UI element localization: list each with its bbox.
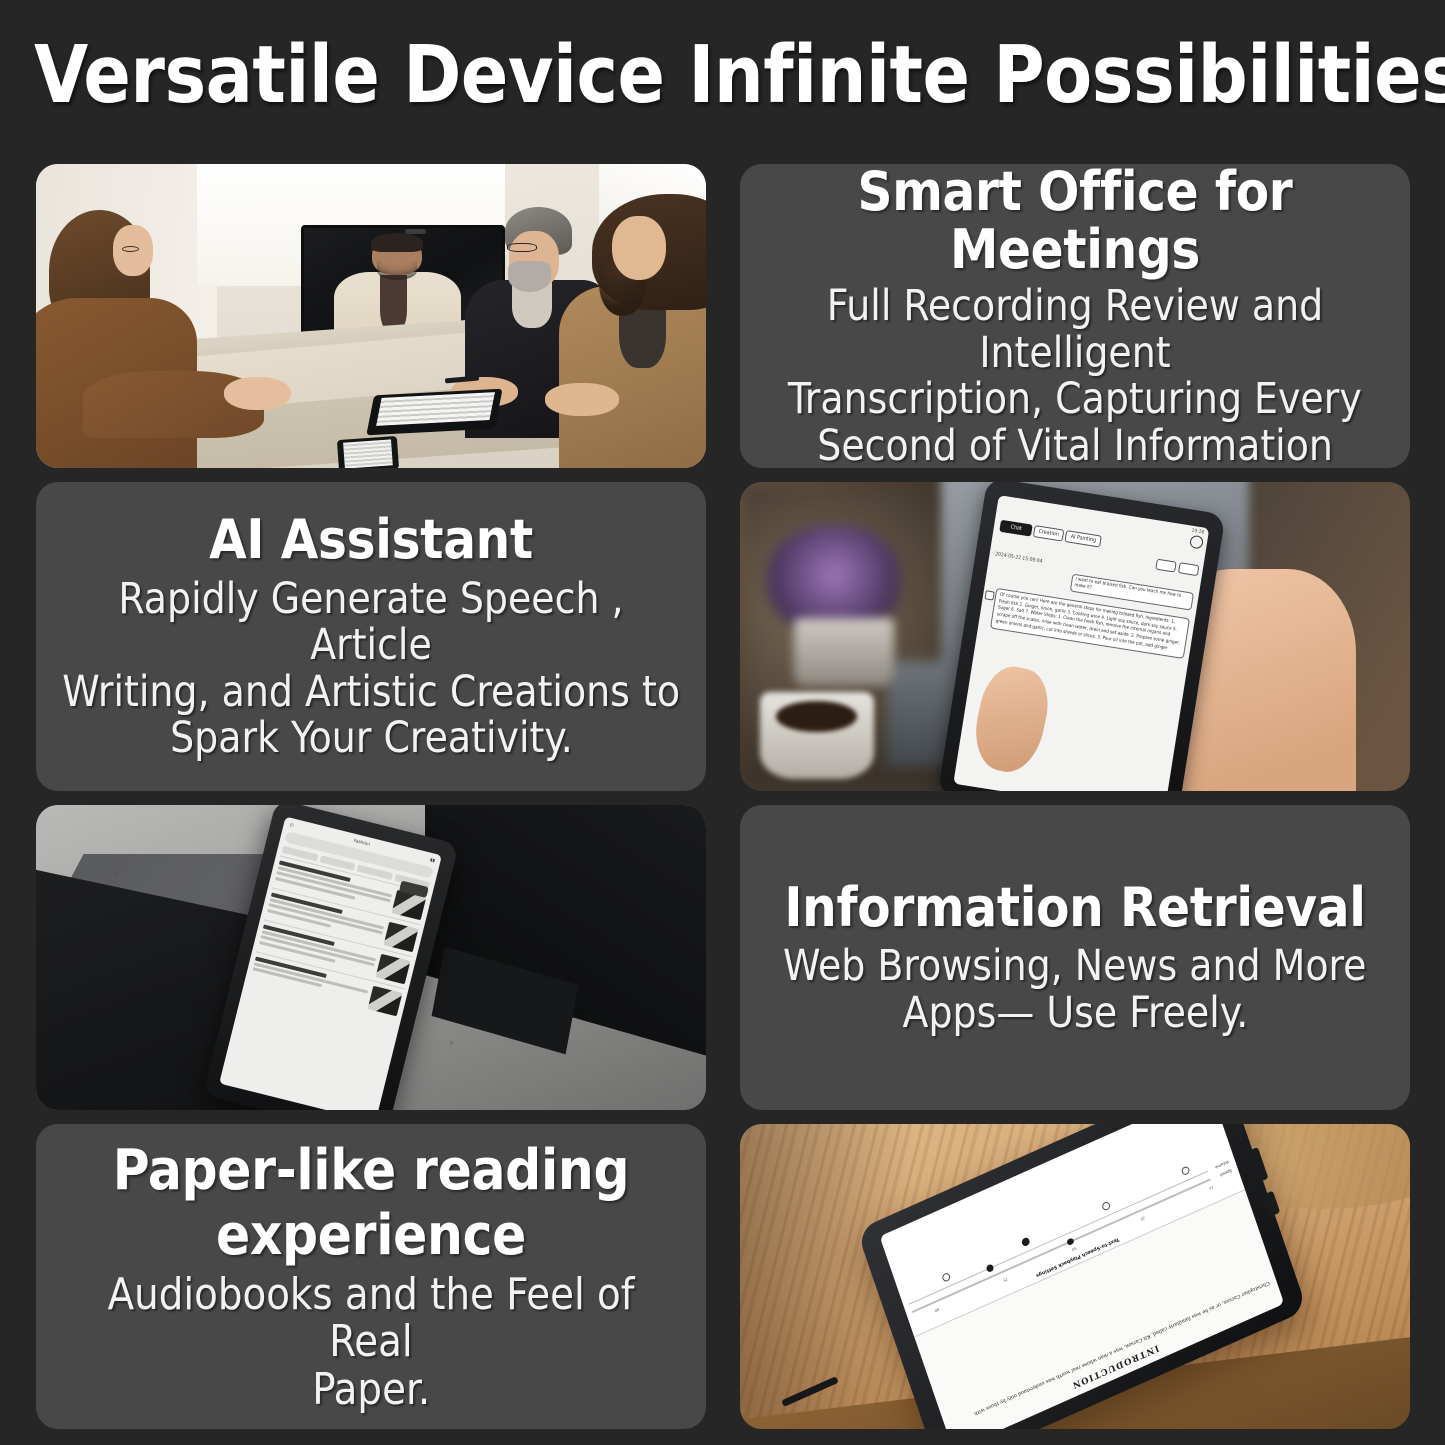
stop-button[interactable] xyxy=(1101,1201,1111,1212)
ai-assistant-body-line-3: Spark Your Creativity. xyxy=(170,715,573,761)
thumbnail-image xyxy=(368,986,403,1017)
information-retrieval-heading: Information Retrieval xyxy=(784,879,1365,937)
speed-mark: 1x xyxy=(1208,1185,1213,1191)
information-retrieval-body-line-1: Web Browsing, News and More xyxy=(783,943,1367,989)
infographic-page: Versatile Device Infinite Possibilities xyxy=(0,0,1445,1445)
ai-chat-phone-photo: 19:28 Chat Creation AI Painting 2024-05-… xyxy=(740,482,1410,791)
tab-creation[interactable]: Creation xyxy=(1033,525,1065,542)
tts-panel-title: Text-to-Speech Playback Settings xyxy=(916,1183,1237,1330)
exit-button[interactable] xyxy=(1181,1165,1191,1176)
ai-assistant-heading: AI Assistant xyxy=(209,511,533,569)
ereader-on-wood-photo: INTRODUCTION Christopher Carson, or as h… xyxy=(740,1124,1410,1429)
paper-like-body-line-2: Paper. xyxy=(312,1366,430,1414)
account-avatar-icon xyxy=(1189,535,1204,550)
smart-office-body-line-3: Second of Vital Information xyxy=(817,423,1333,468)
paper-like-body-line-1: Audiobooks and the Feel of Real xyxy=(77,1271,665,1366)
ai-assistant-body-line-1: Rapidly Generate Speech , Article xyxy=(60,576,681,669)
volume-slider[interactable] xyxy=(909,1171,1208,1305)
smart-office-card: Smart Office for Meetings Full Recording… xyxy=(740,164,1410,468)
meeting-room-photo xyxy=(36,164,706,468)
chat-timestamp: 2024-05-22 15:09:04 xyxy=(995,552,1043,565)
thumbnail-image xyxy=(376,954,411,985)
speed-mark: 25 xyxy=(1140,1216,1145,1222)
speed-mark: 80 xyxy=(934,1307,939,1313)
assistant-avatar-icon xyxy=(985,591,995,601)
ai-assistant-card: AI Assistant Rapidly Generate Speech , A… xyxy=(36,482,706,791)
phone-on-concrete-photo: ◴Fashion▮▮ xyxy=(36,805,706,1110)
paper-like-heading-line-1: Paper-like reading xyxy=(113,1140,630,1202)
feature-grid: Smart Office for Meetings Full Recording… xyxy=(36,164,1410,1411)
information-retrieval-body-line-2: Apps— Use Freely. xyxy=(902,990,1248,1036)
tab-ai-painting[interactable]: AI Painting xyxy=(1065,531,1102,548)
page-title: Versatile Device Infinite Possibilities xyxy=(34,36,1393,115)
phone-device-icon xyxy=(336,436,398,468)
smart-office-body-line-2: Transcription, Capturing Every xyxy=(788,376,1362,422)
paper-like-heading-line-2: experience xyxy=(216,1205,526,1267)
tab-chat[interactable]: Chat xyxy=(1000,520,1033,537)
thumbnail-image xyxy=(384,922,419,953)
setting-button[interactable] xyxy=(941,1272,951,1283)
paper-like-reading-card: Paper-like reading experience Audiobooks… xyxy=(36,1124,706,1429)
smart-office-heading: Smart Office for Meetings xyxy=(758,164,1392,279)
tablet-device-icon xyxy=(366,389,503,435)
speed-mark: 75 xyxy=(1003,1277,1008,1283)
play-button[interactable] xyxy=(1021,1236,1031,1247)
speed-slider[interactable] xyxy=(912,1179,1211,1313)
ai-assistant-body-line-2: Writing, and Artistic Creations to xyxy=(62,669,680,715)
smart-office-body-line-1: Full Recording Review and Intelligent xyxy=(764,283,1385,376)
information-retrieval-card: Information Retrieval Web Browsing, News… xyxy=(740,805,1410,1110)
search-icon[interactable] xyxy=(1155,559,1176,573)
speed-mark: 50 xyxy=(1071,1246,1076,1252)
history-icon[interactable] xyxy=(1178,563,1199,577)
browser-heading: Fashion xyxy=(353,839,370,848)
